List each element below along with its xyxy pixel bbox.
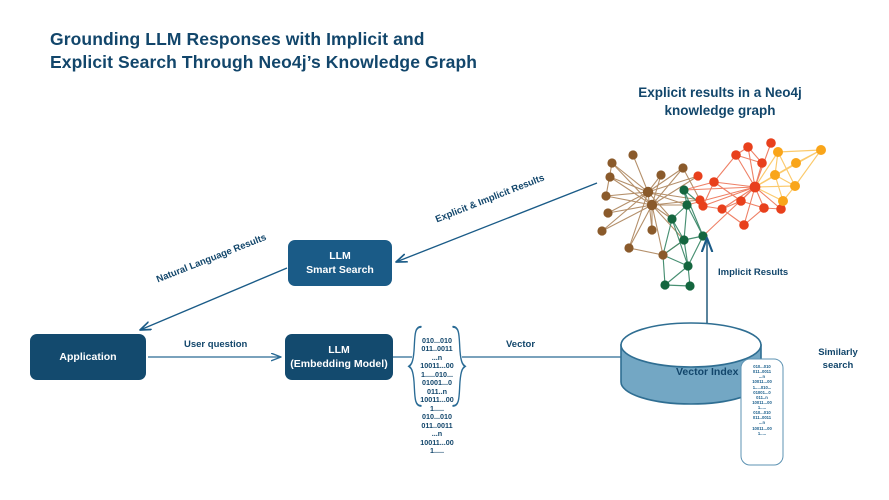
knowledge-graph-nodes (597, 138, 826, 290)
graph-node-icon (656, 170, 665, 179)
graph-node-icon (759, 203, 769, 213)
graph-node-icon (624, 243, 633, 252)
graph-node-icon (790, 181, 800, 191)
graph-node-icon (603, 208, 612, 217)
graph-node-icon (660, 280, 669, 289)
graph-node-icon (601, 191, 610, 200)
graph-node-icon (643, 187, 653, 197)
graph-node-icon (717, 204, 726, 213)
binary-vector-block: 010...010 011..0011 ...n 10011...00 1...… (411, 337, 463, 456)
graph-node-icon (678, 163, 687, 172)
graph-node-icon (685, 281, 694, 290)
graph-node-icon (709, 177, 719, 187)
graph-node-icon (679, 185, 688, 194)
database-cylinder-icon (621, 323, 761, 404)
graph-node-icon (791, 158, 801, 168)
graph-node-icon (750, 182, 761, 193)
graph-node-icon (647, 200, 657, 210)
graph-node-icon (736, 196, 746, 206)
graph-node-icon (778, 196, 788, 206)
knowledge-graph-edges (602, 143, 821, 286)
graph-node-icon (647, 225, 656, 234)
graph-node-icon (628, 150, 637, 159)
graph-node-icon (698, 201, 707, 210)
edge-label-implicit-results: Implicit Results (718, 267, 788, 278)
graph-node-icon (658, 250, 667, 259)
graph-node-icon (693, 171, 702, 180)
graph-node-icon (667, 214, 676, 223)
graph-node-icon (597, 226, 606, 235)
graph-node-icon (679, 235, 688, 244)
graph-node-icon (683, 261, 692, 270)
graph-node-icon (743, 142, 753, 152)
graph-node-icon (770, 170, 780, 180)
vector-index-label: Vector Index (676, 366, 738, 378)
diagram-canvas: Grounding LLM Responses with Implicit an… (0, 0, 889, 500)
graph-node-icon (605, 172, 614, 181)
binary-vector-block-mini: 010...010 011..0011 ...n 10011...00 1...… (744, 364, 780, 436)
node-llm-smart-search[interactable]: LLM Smart Search (288, 240, 392, 286)
graph-node-icon (607, 158, 616, 167)
graph-node-icon (816, 145, 826, 155)
graph-node-icon (731, 150, 741, 160)
graph-node-icon (682, 200, 691, 209)
edge-label-similarly-search: Similarly search (800, 347, 876, 373)
graph-node-icon (757, 158, 767, 168)
node-llm-embedding-model[interactable]: LLM (Embedding Model) (285, 334, 393, 380)
edge-label-vector: Vector (506, 339, 535, 350)
graph-node-icon (739, 220, 749, 230)
edge-label-user-question: User question (184, 339, 247, 350)
node-application[interactable]: Application (30, 334, 146, 380)
graph-node-icon (766, 138, 776, 148)
graph-node-icon (773, 147, 783, 157)
